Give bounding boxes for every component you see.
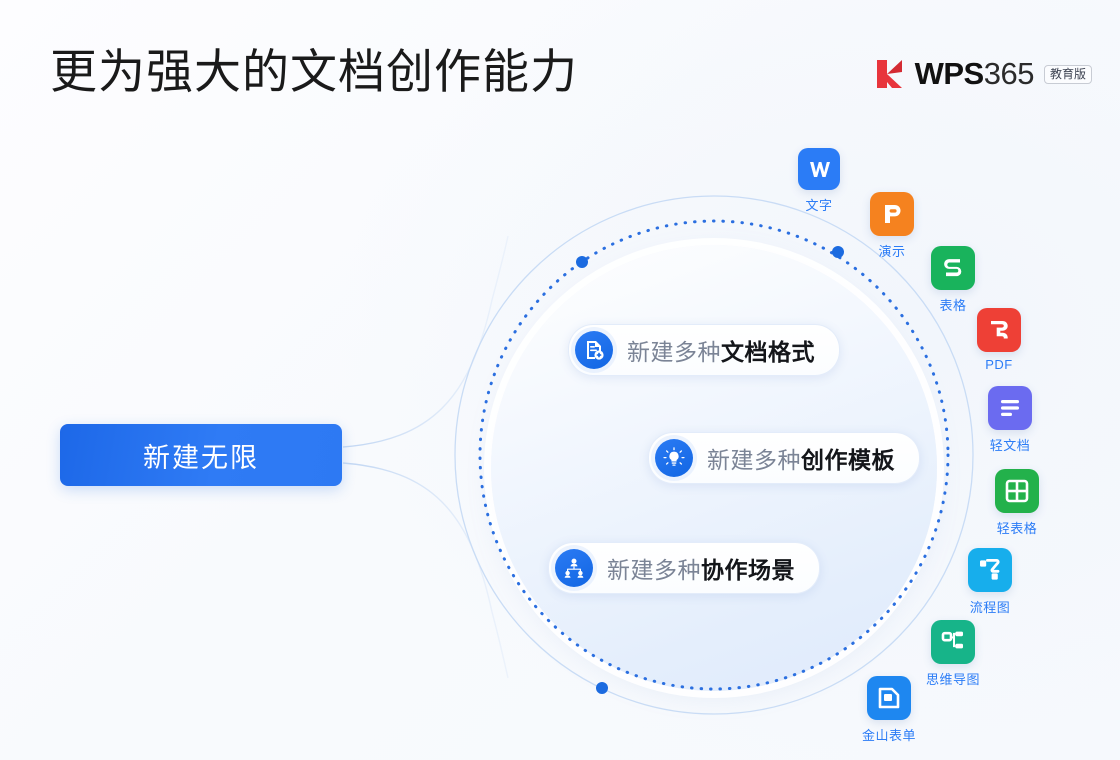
- feature-pill-label: 新建多种协作场景: [607, 551, 795, 585]
- light-doc-lines-icon: [988, 386, 1032, 430]
- edition-badge: 教育版: [1044, 65, 1092, 84]
- feature-prefix: 新建多种: [607, 557, 701, 583]
- brand-name-365: 365: [984, 56, 1034, 91]
- document-add-icon: [575, 331, 613, 369]
- app-item-label: 文字: [805, 195, 832, 214]
- app-item-label: 金山表单: [862, 725, 916, 744]
- marker-dot-top-left: [576, 256, 588, 268]
- app-item-label: 流程图: [970, 597, 1011, 616]
- feature-pill-document-format[interactable]: 新建多种文档格式: [568, 324, 840, 376]
- wps-k-logo-icon: [875, 58, 905, 90]
- app-item-2[interactable]: 表格: [931, 246, 975, 314]
- feature-pill-label: 新建多种创作模板: [707, 441, 895, 475]
- feature-emphasis: 创作模板: [801, 447, 895, 473]
- light-sheet-grid-icon: [995, 469, 1039, 513]
- app-item-label: PDF: [985, 357, 1013, 372]
- connector-lower: [343, 463, 508, 678]
- app-item-3[interactable]: PDF: [977, 308, 1021, 372]
- brand-name-wps: WPS: [915, 56, 984, 91]
- feature-emphasis: 协作场景: [701, 557, 795, 583]
- left-node-label: 新建无限: [143, 436, 259, 475]
- app-item-6[interactable]: 流程图: [968, 548, 1012, 616]
- feature-pill-collaboration-scene[interactable]: 新建多种协作场景: [548, 542, 820, 594]
- app-item-4[interactable]: 轻文档: [988, 386, 1032, 454]
- app-item-label: 轻表格: [997, 518, 1038, 537]
- wps-pdf-icon: [977, 308, 1021, 352]
- feature-prefix: 新建多种: [627, 339, 721, 365]
- app-item-1[interactable]: 演示: [870, 192, 914, 260]
- feature-prefix: 新建多种: [707, 447, 801, 473]
- brand-lockup: WPS365 教育版: [875, 56, 1092, 92]
- flowchart-icon: [968, 548, 1012, 592]
- feature-pill-creation-template[interactable]: 新建多种创作模板: [648, 432, 920, 484]
- app-item-label: 演示: [878, 241, 905, 260]
- marker-dot-top-right: [832, 246, 844, 258]
- wps-spreadsheet-s-icon: [931, 246, 975, 290]
- app-item-8[interactable]: 金山表单: [862, 676, 916, 744]
- kingsoft-form-icon: [867, 676, 911, 720]
- connector-upper: [343, 236, 508, 447]
- slide-canvas: 更为强大的文档创作能力 WPS365 教育版 新建无限: [0, 0, 1120, 760]
- feature-pill-label: 新建多种文档格式: [627, 333, 815, 367]
- wps-presentation-p-icon: [870, 192, 914, 236]
- feature-emphasis: 文档格式: [721, 339, 815, 365]
- brand-name: WPS365: [915, 56, 1034, 92]
- left-node-button[interactable]: 新建无限: [60, 424, 342, 486]
- wps-writer-w-icon: [798, 148, 840, 190]
- app-item-5[interactable]: 轻表格: [995, 469, 1039, 537]
- team-collaboration-icon: [555, 549, 593, 587]
- app-item-label: 表格: [939, 295, 966, 314]
- marker-dot-bottom: [596, 682, 608, 694]
- lightbulb-idea-icon: [655, 439, 693, 477]
- page-title: 更为强大的文档创作能力: [50, 44, 578, 100]
- mindmap-icon: [931, 620, 975, 664]
- app-item-label: 思维导图: [926, 669, 980, 688]
- app-item-0[interactable]: 文字: [798, 148, 840, 214]
- app-item-label: 轻文档: [990, 435, 1031, 454]
- app-item-7[interactable]: 思维导图: [926, 620, 980, 688]
